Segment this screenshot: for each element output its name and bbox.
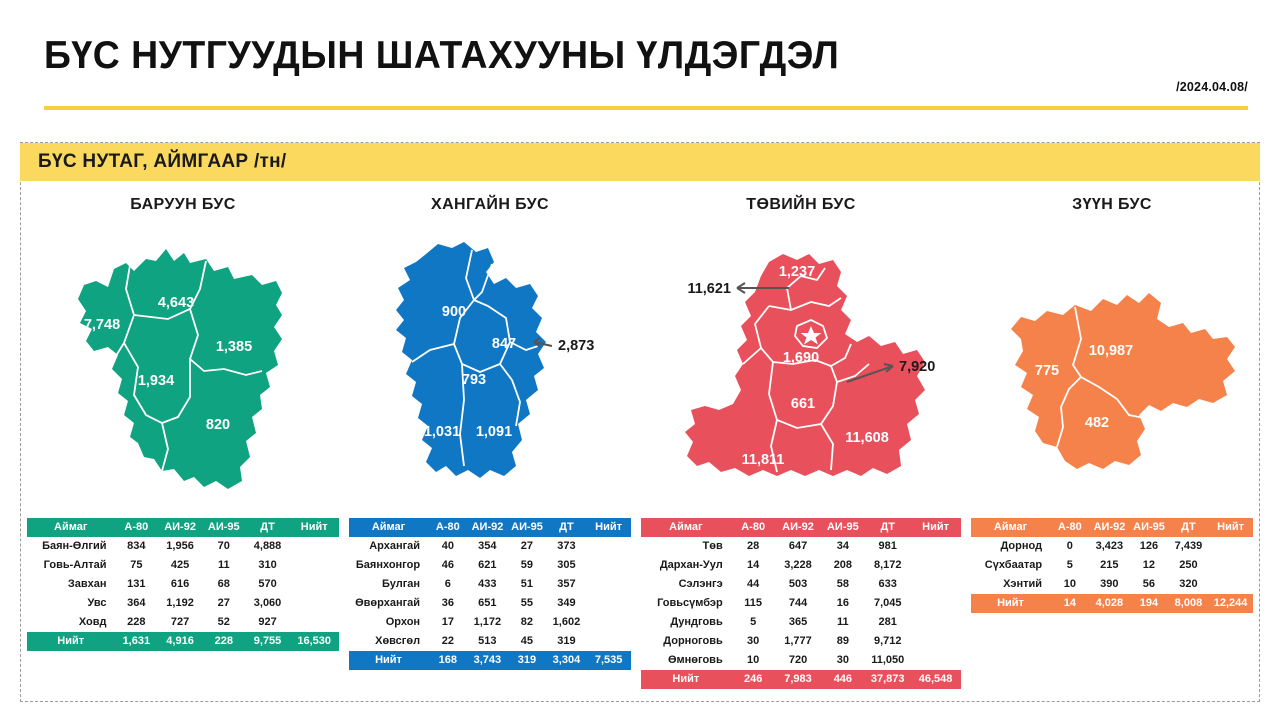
cell-a80: 6 [428, 575, 468, 594]
cell-total: 4,643 [289, 594, 339, 613]
cell-ai92: 365 [776, 613, 821, 632]
table-eastern: Аймаг А-80 АИ-92 АИ-95 ДТ Нийт Дорнод 0 [971, 518, 1253, 613]
col-header-aimag: Аймаг [971, 518, 1050, 537]
cell-dt: 373 [547, 537, 587, 556]
map-label-value: 11,608 [845, 430, 889, 446]
cell-aimag: Дундговь [641, 613, 731, 632]
region-columns: БАРУУН БУС 7,748 [22, 190, 1258, 702]
cell-total: 1,934 [289, 613, 339, 632]
col-header-ai92: АИ-92 [1090, 518, 1130, 537]
cell-a80: 14 [731, 556, 776, 575]
cell-a80: 131 [114, 575, 158, 594]
cell-dt: 981 [865, 537, 910, 556]
col-header-ai92: АИ-92 [158, 518, 202, 537]
col-header-total: Нийт [910, 518, 961, 537]
region-central: ТӨВИЙН БУС [636, 190, 966, 702]
map-label-value: 1,934 [138, 373, 174, 389]
cell-total: 11,811 [910, 651, 961, 670]
footer-a80: 1,631 [114, 632, 158, 651]
region-title-khangai: ХАНГАЙН БУС [344, 196, 636, 214]
map-label-value: 1,237 [779, 264, 815, 280]
footer-dt: 3,304 [547, 651, 587, 670]
cell-a80: 5 [731, 613, 776, 632]
cell-total: 1,237 [910, 575, 961, 594]
table-row: Ховд 228 727 52 927 1,934 [27, 613, 339, 632]
region-khangai: ХАНГАЙН БУС [344, 190, 636, 702]
footer-total: 7,535 [586, 651, 631, 670]
footer-label: Нийт [27, 632, 114, 651]
table-row: Булган 6 433 51 357 847 [349, 575, 631, 594]
table-footer-row: Нийт 246 7,983 446 37,873 46,548 [641, 670, 961, 689]
cell-total: 847 [586, 575, 631, 594]
table-khangai: Аймаг А-80 АИ-92 АИ-95 ДТ Нийт Архангай … [349, 518, 631, 670]
cell-ai92: 503 [776, 575, 821, 594]
cell-dt: 9,712 [865, 632, 910, 651]
map-central: 1,237 1,690 661 11,608 11,811 11,621 7,9… [636, 214, 966, 514]
cell-dt: 633 [865, 575, 910, 594]
table-row: Дархан-Уул 14 3,228 208 8,172 11,621 [641, 556, 961, 575]
cell-dt: 11,050 [865, 651, 910, 670]
table-footer-row: Нийт 14 4,028 194 8,008 12,244 [971, 594, 1253, 613]
map-label-value: 775 [1035, 363, 1059, 379]
cell-total: 1,031 [586, 556, 631, 575]
footer-a80: 246 [731, 670, 776, 689]
cell-ai95: 68 [202, 575, 246, 594]
table-box-eastern: Аймаг А-80 АИ-92 АИ-95 ДТ Нийт Дорнод 0 [966, 514, 1258, 618]
cell-dt: 250 [1169, 556, 1209, 575]
cell-total: 900 [586, 632, 631, 651]
map-polygons-khangai [396, 242, 546, 478]
cell-a80: 40 [428, 537, 468, 556]
table-header-row: Аймаг А-80 АИ-92 АИ-95 ДТ Нийт [971, 518, 1253, 537]
cell-ai92: 513 [468, 632, 508, 651]
cell-ai92: 647 [776, 537, 821, 556]
cell-aimag: Говь-Алтай [27, 556, 114, 575]
cell-ai95: 27 [507, 537, 547, 556]
cell-ai92: 3,228 [776, 556, 821, 575]
map-label-value: 1,385 [216, 339, 252, 355]
cell-a80: 28 [731, 537, 776, 556]
footer-dt: 37,873 [865, 670, 910, 689]
cell-ai95: 27 [202, 594, 246, 613]
col-header-a80: А-80 [114, 518, 158, 537]
col-header-aimag: Аймаг [641, 518, 731, 537]
cell-ai95: 55 [507, 594, 547, 613]
col-header-a80: А-80 [428, 518, 468, 537]
table-row: Баянхонгор 46 621 59 305 1,031 [349, 556, 631, 575]
cell-a80: 228 [114, 613, 158, 632]
col-header-dt: ДТ [865, 518, 910, 537]
cell-total: 1,385 [289, 575, 339, 594]
cell-total: 10,987 [1208, 537, 1253, 556]
col-header-dt: ДТ [1169, 518, 1209, 537]
cell-ai92: 616 [158, 575, 202, 594]
cell-aimag: Төв [641, 537, 731, 556]
cell-ai92: 390 [1090, 575, 1130, 594]
cell-ai95: 56 [1129, 575, 1169, 594]
cell-total: 482 [1208, 556, 1253, 575]
table-row: Төв 28 647 34 981 1,690 [641, 537, 961, 556]
table-row: Увс 364 1,192 27 3,060 4,643 [27, 594, 339, 613]
map-western: 7,748 4,643 1,385 1,934 820 [22, 214, 344, 514]
table-footer-row: Нийт 1,631 4,916 228 9,755 16,530 [27, 632, 339, 651]
table-box-western: Аймаг А-80 АИ-92 АИ-95 ДТ Нийт Баян-Өлги… [22, 514, 344, 656]
table-row: Дорноговь 30 1,777 89 9,712 11,608 [641, 632, 961, 651]
cell-aimag: Өвөрхангай [349, 594, 428, 613]
footer-ai95: 446 [820, 670, 865, 689]
table-row: Орхон 17 1,172 82 1,602 2,873 [349, 613, 631, 632]
cell-a80: 22 [428, 632, 468, 651]
cell-total: 793 [586, 537, 631, 556]
cell-aimag: Архангай [349, 537, 428, 556]
cell-aimag: Сэлэнгэ [641, 575, 731, 594]
region-eastern: ЗҮҮН БУС 775 10,987 482 [966, 190, 1258, 702]
cell-ai95: 51 [507, 575, 547, 594]
cell-ai92: 621 [468, 556, 508, 575]
cell-aimag: Дархан-Уул [641, 556, 731, 575]
cell-total: 1,690 [910, 537, 961, 556]
map-callout-value: 2,873 [558, 338, 594, 354]
cell-ai95: 82 [507, 613, 547, 632]
cell-aimag: Дорнод [971, 537, 1050, 556]
cell-aimag: Өмнөговь [641, 651, 731, 670]
cell-dt: 1,602 [547, 613, 587, 632]
cell-ai92: 1,956 [158, 537, 202, 556]
cell-dt: 7,045 [865, 594, 910, 613]
map-label-value: 661 [791, 396, 815, 412]
map-label-value: 7,748 [84, 317, 120, 333]
map-label-value: 11,811 [742, 452, 785, 468]
cell-a80: 46 [428, 556, 468, 575]
map-shape-eastern [1011, 293, 1235, 469]
cell-a80: 75 [114, 556, 158, 575]
cell-total: 1,091 [586, 594, 631, 613]
cell-ai95: 208 [820, 556, 865, 575]
col-header-a80: А-80 [731, 518, 776, 537]
map-eastern: 775 10,987 482 [966, 214, 1258, 514]
cell-aimag: Булган [349, 575, 428, 594]
cell-aimag: Говьсүмбэр [641, 594, 731, 613]
map-shape-western [78, 249, 282, 489]
table-row: Дорнод 0 3,423 126 7,439 10,987 [971, 537, 1253, 556]
table-central: Аймаг А-80 АИ-92 АИ-95 ДТ Нийт Төв 28 64 [641, 518, 961, 689]
cell-aimag: Сүхбаатар [971, 556, 1050, 575]
cell-dt: 4,888 [246, 537, 290, 556]
footer-dt: 8,008 [1169, 594, 1209, 613]
cell-total: 820 [289, 556, 339, 575]
cell-ai92: 3,423 [1090, 537, 1130, 556]
cell-total: 661 [910, 613, 961, 632]
map-polygons-eastern [1011, 293, 1235, 469]
cell-aimag: Баян-Өлгий [27, 537, 114, 556]
footer-a80: 14 [1050, 594, 1090, 613]
cell-aimag: Баянхонгор [349, 556, 428, 575]
col-header-ai92: АИ-92 [776, 518, 821, 537]
cell-ai92: 727 [158, 613, 202, 632]
cell-ai95: 45 [507, 632, 547, 651]
cell-a80: 44 [731, 575, 776, 594]
table-row: Сэлэнгэ 44 503 58 633 1,237 [641, 575, 961, 594]
footer-dt: 9,755 [246, 632, 290, 651]
map-label-value: 793 [462, 372, 486, 388]
cell-ai92: 425 [158, 556, 202, 575]
cell-a80: 30 [731, 632, 776, 651]
cell-ai92: 744 [776, 594, 821, 613]
cell-ai92: 354 [468, 537, 508, 556]
cell-ai95: 34 [820, 537, 865, 556]
cell-ai95: 70 [202, 537, 246, 556]
col-header-total: Нийт [586, 518, 631, 537]
table-row: Говьсүмбэр 115 744 16 7,045 7,920 [641, 594, 961, 613]
map-khangai: 900 847 793 1,031 1,091 2,873 [344, 214, 636, 514]
region-title-eastern: ЗҮҮН БУС [966, 196, 1258, 214]
cell-dt: 310 [246, 556, 290, 575]
table-western: Аймаг А-80 АИ-92 АИ-95 ДТ Нийт Баян-Өлги… [27, 518, 339, 651]
cell-ai95: 16 [820, 594, 865, 613]
table-row: Архангай 40 354 27 373 793 [349, 537, 631, 556]
cell-ai95: 30 [820, 651, 865, 670]
col-header-total: Нийт [1208, 518, 1253, 537]
col-header-ai95: АИ-95 [820, 518, 865, 537]
table-footer-row: Нийт 168 3,743 319 3,304 7,535 [349, 651, 631, 670]
cell-total: 7,920 [910, 594, 961, 613]
cell-a80: 10 [1050, 575, 1090, 594]
cell-ai95: 58 [820, 575, 865, 594]
cell-aimag: Увс [27, 594, 114, 613]
map-label-value: 482 [1085, 415, 1109, 431]
cell-ai92: 1,777 [776, 632, 821, 651]
map-polygons-western [78, 249, 282, 489]
col-header-dt: ДТ [547, 518, 587, 537]
cell-a80: 36 [428, 594, 468, 613]
cell-dt: 319 [547, 632, 587, 651]
map-callout-value: 11,621 [687, 281, 731, 297]
table-row: Хөвсгөл 22 513 45 319 900 [349, 632, 631, 651]
footer-ai95: 194 [1129, 594, 1169, 613]
table-header-row: Аймаг А-80 АИ-92 АИ-95 ДТ Нийт [27, 518, 339, 537]
cell-ai92: 720 [776, 651, 821, 670]
col-header-ai95: АИ-95 [507, 518, 547, 537]
cell-a80: 834 [114, 537, 158, 556]
cell-ai92: 651 [468, 594, 508, 613]
table-box-central: Аймаг А-80 АИ-92 АИ-95 ДТ Нийт Төв 28 64 [636, 514, 966, 694]
cell-total: 11,621 [910, 556, 961, 575]
report-date: /2024.04.08/ [1176, 80, 1248, 94]
table-row: Өвөрхангай 36 651 55 349 1,091 [349, 594, 631, 613]
page-title: БҮС НУТГУУДЫН ШАТАХУУНЫ ҮЛДЭГДЭЛ [44, 34, 839, 78]
infographic-page: БҮС НУТГУУДЫН ШАТАХУУНЫ ҮЛДЭГДЭЛ /2024.0… [0, 0, 1280, 720]
map-label-value: 1,031 [424, 424, 460, 440]
map-label-value: 900 [442, 304, 466, 320]
cell-dt: 570 [246, 575, 290, 594]
footer-ai95: 228 [202, 632, 246, 651]
cell-aimag: Хөвсгөл [349, 632, 428, 651]
cell-ai92: 1,172 [468, 613, 508, 632]
col-header-ai95: АИ-95 [1129, 518, 1169, 537]
footer-ai92: 4,028 [1090, 594, 1130, 613]
footer-ai92: 4,916 [158, 632, 202, 651]
cell-ai92: 433 [468, 575, 508, 594]
map-label-value: 847 [492, 336, 516, 352]
cell-dt: 7,439 [1169, 537, 1209, 556]
cell-dt: 357 [547, 575, 587, 594]
cell-ai95: 12 [1129, 556, 1169, 575]
cell-aimag: Хэнтий [971, 575, 1050, 594]
cell-ai95: 126 [1129, 537, 1169, 556]
map-label-value: 1,690 [783, 350, 819, 366]
cell-aimag: Завхан [27, 575, 114, 594]
footer-ai92: 7,983 [776, 670, 821, 689]
cell-ai95: 89 [820, 632, 865, 651]
table-row: Сүхбаатар 5 215 12 250 482 [971, 556, 1253, 575]
table-header-row: Аймаг А-80 АИ-92 АИ-95 ДТ Нийт [349, 518, 631, 537]
cell-a80: 0 [1050, 537, 1090, 556]
map-label-value: 820 [206, 417, 230, 433]
map-label-value: 1,091 [476, 424, 512, 440]
table-header-row: Аймаг А-80 АИ-92 АИ-95 ДТ Нийт [641, 518, 961, 537]
cell-dt: 349 [547, 594, 587, 613]
footer-a80: 168 [428, 651, 468, 670]
cell-ai95: 11 [202, 556, 246, 575]
cell-ai95: 11 [820, 613, 865, 632]
cell-dt: 8,172 [865, 556, 910, 575]
cell-aimag: Ховд [27, 613, 114, 632]
cell-a80: 10 [731, 651, 776, 670]
cell-ai95: 59 [507, 556, 547, 575]
table-row: Дундговь 5 365 11 281 661 [641, 613, 961, 632]
col-header-total: Нийт [289, 518, 339, 537]
cell-a80: 5 [1050, 556, 1090, 575]
cell-total: 2,873 [586, 613, 631, 632]
footer-label: Нийт [971, 594, 1050, 613]
col-header-a80: А-80 [1050, 518, 1090, 537]
cell-dt: 305 [547, 556, 587, 575]
cell-a80: 115 [731, 594, 776, 613]
title-underline-rule [44, 106, 1248, 110]
cell-a80: 17 [428, 613, 468, 632]
cell-ai92: 1,192 [158, 594, 202, 613]
map-label-value: 10,987 [1089, 343, 1133, 359]
table-row: Өмнөговь 10 720 30 11,050 11,811 [641, 651, 961, 670]
cell-dt: 927 [246, 613, 290, 632]
footer-label: Нийт [349, 651, 428, 670]
cell-aimag: Орхон [349, 613, 428, 632]
map-shape-khangai [396, 242, 546, 478]
table-row: Говь-Алтай 75 425 11 310 820 [27, 556, 339, 575]
table-row: Завхан 131 616 68 570 1,385 [27, 575, 339, 594]
footer-total: 16,530 [289, 632, 339, 651]
cell-total: 775 [1208, 575, 1253, 594]
cell-ai92: 215 [1090, 556, 1130, 575]
col-header-dt: ДТ [246, 518, 290, 537]
map-label-value: 4,643 [158, 295, 194, 311]
col-header-aimag: Аймаг [349, 518, 428, 537]
col-header-ai95: АИ-95 [202, 518, 246, 537]
table-row: Хэнтий 10 390 56 320 775 [971, 575, 1253, 594]
table-box-khangai: Аймаг А-80 АИ-92 АИ-95 ДТ Нийт Архангай … [344, 514, 636, 675]
footer-ai95: 319 [507, 651, 547, 670]
footer-total: 46,548 [910, 670, 961, 689]
region-title-central: ТӨВИЙН БУС [636, 196, 966, 214]
cell-dt: 281 [865, 613, 910, 632]
cell-dt: 320 [1169, 575, 1209, 594]
col-header-aimag: Аймаг [27, 518, 114, 537]
cell-aimag: Дорноговь [641, 632, 731, 651]
section-banner: БҮС НУТАГ, АЙМГААР /тн/ [20, 143, 1260, 181]
footer-total: 12,244 [1208, 594, 1253, 613]
col-header-ai92: АИ-92 [468, 518, 508, 537]
footer-ai92: 3,743 [468, 651, 508, 670]
map-callout-value: 7,920 [899, 359, 935, 375]
cell-dt: 3,060 [246, 594, 290, 613]
table-row: Баян-Өлгий 834 1,956 70 4,888 7,748 [27, 537, 339, 556]
footer-label: Нийт [641, 670, 731, 689]
cell-ai95: 52 [202, 613, 246, 632]
region-western: БАРУУН БУС 7,748 [22, 190, 344, 702]
region-title-western: БАРУУН БУС [22, 196, 344, 214]
section-banner-label: БҮС НУТАГ, АЙМГААР /тн/ [38, 151, 287, 173]
cell-a80: 364 [114, 594, 158, 613]
cell-total: 7,748 [289, 537, 339, 556]
cell-total: 11,608 [910, 632, 961, 651]
